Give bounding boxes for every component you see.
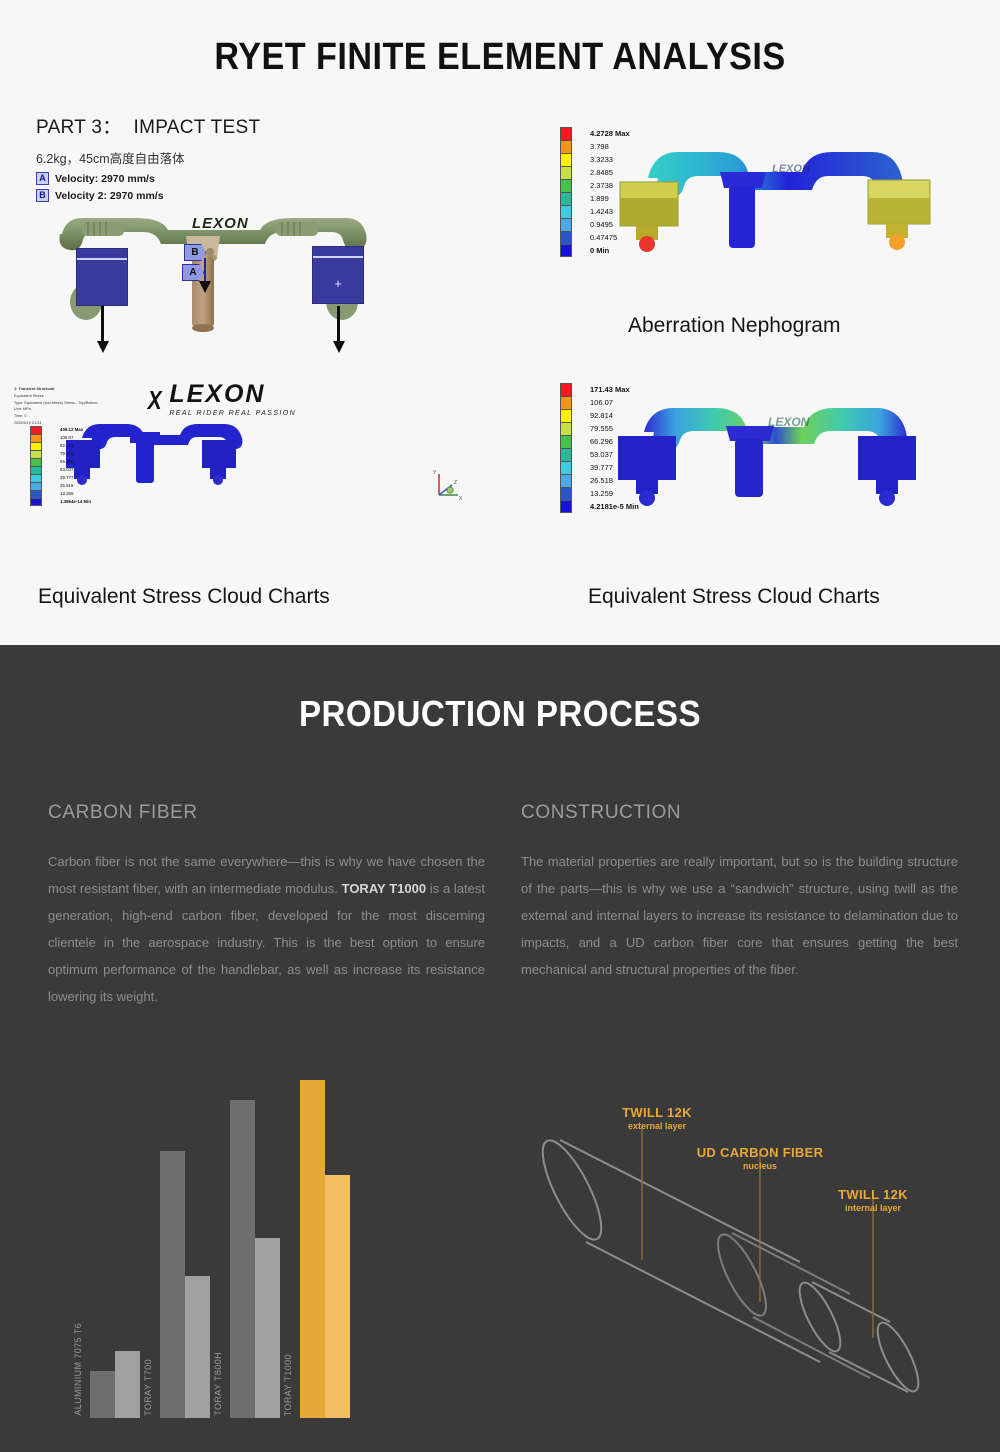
legend-value: 171.43 Max <box>590 383 639 396</box>
bar-toray-t800h-series2 <box>255 1238 280 1418</box>
label-twill-internal: TWILL 12K internal layer <box>818 1188 928 1213</box>
legend-labels: 171.43 Max 106.07 92.814 79.555 66.296 5… <box>590 383 639 513</box>
stress-color-legend-large: 171.43 Max 106.07 92.814 79.555 66.296 5… <box>560 383 639 513</box>
probe-item: B Velocity 2: 2970 mm/s <box>36 189 164 202</box>
legend-value: 3.3233 <box>590 153 630 166</box>
legend-value: 92.814 <box>590 409 639 422</box>
impact-test-illustration: LEXON + B A <box>24 206 404 354</box>
part-name: IMPACT TEST <box>134 117 261 138</box>
cae-analysis-metadata: J: Transient Structural Equivalent Stres… <box>14 386 98 427</box>
tube-construction-diagram: TWILL 12K external layer UD CARBON FIBER… <box>520 1070 970 1440</box>
bar-toray-t1000-series1 <box>300 1080 325 1418</box>
body-text-before: The material properties are really impor… <box>521 854 958 977</box>
legend-value: 4.2728 Max <box>590 127 630 140</box>
legend-value: 79.555 <box>60 450 91 458</box>
legend-value: 66.296 <box>590 435 639 448</box>
cae-meta-line: 2020/5/19 21:24 <box>14 420 98 427</box>
ud-carbon-title: UD CARBON FIBER <box>690 1146 830 1161</box>
category-label-toray-t700: TORAY T700 <box>143 1359 153 1416</box>
carbon-fiber-body: Carbon fiber is not the same everywhere—… <box>48 848 485 1010</box>
legend-value: 39.777 <box>590 461 639 474</box>
legend-color-bar <box>560 127 585 257</box>
legend-value: 53.037 <box>590 448 639 461</box>
caption-stress-cloud-right: Equivalent Stress Cloud Charts <box>588 585 880 609</box>
svg-text:LEXON: LEXON <box>772 163 811 175</box>
caption-aberration-nephogram: Aberration Nephogram <box>628 314 840 338</box>
construction-heading: CONSTRUCTION <box>521 802 958 824</box>
aberration-nephogram-panel: LEXON 4.2728 Max 3.798 <box>540 120 990 300</box>
legend-value: 3.798 <box>590 140 630 153</box>
probe-item: A Velocity: 2970 mm/s <box>36 172 164 185</box>
telescoping-tube-drawing <box>520 1070 970 1440</box>
legend-value: 0.9495 <box>590 218 630 231</box>
label-twill-external: TWILL 12K external layer <box>602 1106 712 1131</box>
bar-toray-t700-series2 <box>185 1276 210 1418</box>
carbon-fiber-heading: CARBON FIBER <box>48 802 485 824</box>
part-number: PART 3： <box>36 117 122 138</box>
category-label-toray-t800h: TORAY T800H <box>213 1352 223 1416</box>
legend-value: 79.555 <box>590 422 639 435</box>
probe-tag-a: A <box>36 172 49 185</box>
aberration-color-legend: 4.2728 Max 3.798 3.3233 2.8485 2.3738 1.… <box>560 127 630 257</box>
column-construction: CONSTRUCTION The material properties are… <box>521 802 958 983</box>
coordinate-triad-icon: Y X Z <box>432 468 466 502</box>
bar-group-toray-t800h: TORAY T800H <box>230 1100 280 1418</box>
legend-value: 1.899 <box>590 192 630 205</box>
stress-cloud-panel-right: LEXON 171.43 Max 106.07 <box>540 378 990 538</box>
probe-label-a: Velocity: 2970 mm/s <box>55 173 155 185</box>
fea-section: RYET FINITE ELEMENT ANALYSIS PART 3：IMPA… <box>0 0 1000 645</box>
material-comparison-bar-chart: ALUMINIUM 7075 T6 TORAY T700 TORAY T800H… <box>90 1080 380 1418</box>
cae-meta-line: Equivalent Stress <box>14 393 98 400</box>
legend-color-bar <box>30 426 55 506</box>
legend-value: 92.814 <box>60 442 91 450</box>
lexon-slogan: REAL RIDER REAL PASSION <box>169 410 296 417</box>
drop-test-spec: 6.2kg，45cm高度自由落体 <box>36 148 185 167</box>
handlebar-brand-logo: LEXON <box>192 215 249 232</box>
legend-value: 2.8485 <box>590 166 630 179</box>
svg-text:Y: Y <box>433 470 437 476</box>
legend-value: 53.037 <box>60 466 91 474</box>
legend-value: 106.07 <box>590 396 639 409</box>
caption-stress-cloud-left: Equivalent Stress Cloud Charts <box>38 585 330 609</box>
legend-value: 409.12 Max <box>60 426 91 434</box>
cae-meta-line: Unit: MPa <box>14 406 98 413</box>
part-heading: PART 3：IMPACT TEST <box>36 112 260 139</box>
legend-labels: 4.2728 Max 3.798 3.3233 2.8485 2.3738 1.… <box>590 127 630 257</box>
probe-direction-arrow <box>204 258 206 282</box>
bar-aluminium-series2 <box>115 1351 140 1418</box>
bar-group-toray-t1000: TORAY T1000 <box>300 1080 350 1418</box>
lexon-brand-logo: X LEXON REAL RIDER REAL PASSION <box>146 382 296 417</box>
probe-legend: A Velocity: 2970 mm/s B Velocity 2: 2970… <box>36 172 164 206</box>
bar-group-aluminium: ALUMINIUM 7075 T6 <box>90 1351 140 1418</box>
twill-internal-sub: internal layer <box>818 1203 928 1213</box>
toray-highlight: TORAY T1000 <box>342 881 426 896</box>
impact-weight-left <box>76 248 128 306</box>
legend-value: 0.47475 <box>590 231 630 244</box>
probe-label-b: Velocity 2: 2970 mm/s <box>55 190 164 202</box>
legend-value: 66.296 <box>60 458 91 466</box>
impact-arrow-right <box>337 306 340 342</box>
legend-value: 26.518 <box>590 474 639 487</box>
legend-value: 26.518 <box>60 482 91 490</box>
bar-group-toray-t700: TORAY T700 <box>160 1151 210 1418</box>
svg-text:LEXON: LEXON <box>768 415 810 429</box>
twill-internal-title: TWILL 12K <box>818 1188 928 1203</box>
twill-external-sub: external layer <box>602 1121 712 1131</box>
bar-aluminium-series1 <box>90 1371 115 1418</box>
impact-weight-right: + <box>312 246 364 304</box>
legend-value: 2.3738 <box>590 179 630 192</box>
cae-meta-line: Type: Equivalent (von-Mises) Stress - To… <box>14 400 98 407</box>
construction-body: The material properties are really impor… <box>521 848 958 983</box>
column-carbon-fiber: CARBON FIBER Carbon fiber is not the sam… <box>48 802 485 1010</box>
bar-toray-t1000-series2 <box>325 1175 350 1418</box>
category-label-aluminium: ALUMINIUM 7075 T6 <box>73 1323 83 1416</box>
body-text-after: is a latest generation, high-end carbon … <box>48 881 485 1004</box>
twill-external-title: TWILL 12K <box>602 1106 712 1121</box>
stress-color-legend-small: 409.12 Max 106.07 92.814 79.555 66.296 5… <box>30 426 91 506</box>
probe-tag-b: B <box>36 189 49 202</box>
legend-value: 4.2181e-5 Min <box>590 500 639 513</box>
legend-labels: 409.12 Max 106.07 92.814 79.555 66.296 5… <box>60 426 91 506</box>
legend-value: 1.4243 <box>590 205 630 218</box>
legend-value: 0 Min <box>590 244 630 257</box>
cae-meta-line: J: Transient Structural <box>14 386 98 393</box>
bar-toray-t700-series1 <box>160 1151 185 1418</box>
ud-carbon-sub: nucleus <box>690 1161 830 1171</box>
legend-value: 13.259 <box>590 487 639 500</box>
legend-value: 106.07 <box>60 434 91 442</box>
production-title: PRODUCTION PROCESS <box>40 693 960 735</box>
cae-meta-line: Time: 0 <box>14 413 98 420</box>
page-title: RYET FINITE ELEMENT ANALYSIS <box>50 36 950 79</box>
category-label-toray-t1000: TORAY T1000 <box>283 1354 293 1416</box>
legend-value: 13.259 <box>60 490 91 498</box>
legend-color-bar <box>560 383 585 513</box>
infographic-page: RYET FINITE ELEMENT ANALYSIS PART 3：IMPA… <box>0 0 1000 1452</box>
impact-arrow-left <box>101 306 104 342</box>
lexon-x-icon: X <box>148 387 162 413</box>
legend-value: 1.3854e-14 Min <box>60 498 91 506</box>
weight-plus-marker: + <box>334 277 342 290</box>
svg-text:X: X <box>459 496 463 502</box>
lexon-wordmark: LEXON <box>169 380 265 408</box>
legend-value: 39.777 <box>60 474 91 482</box>
label-ud-carbon-fiber: UD CARBON FIBER nucleus <box>690 1146 830 1171</box>
svg-text:Z: Z <box>454 480 457 486</box>
bar-toray-t800h-series1 <box>230 1100 255 1418</box>
